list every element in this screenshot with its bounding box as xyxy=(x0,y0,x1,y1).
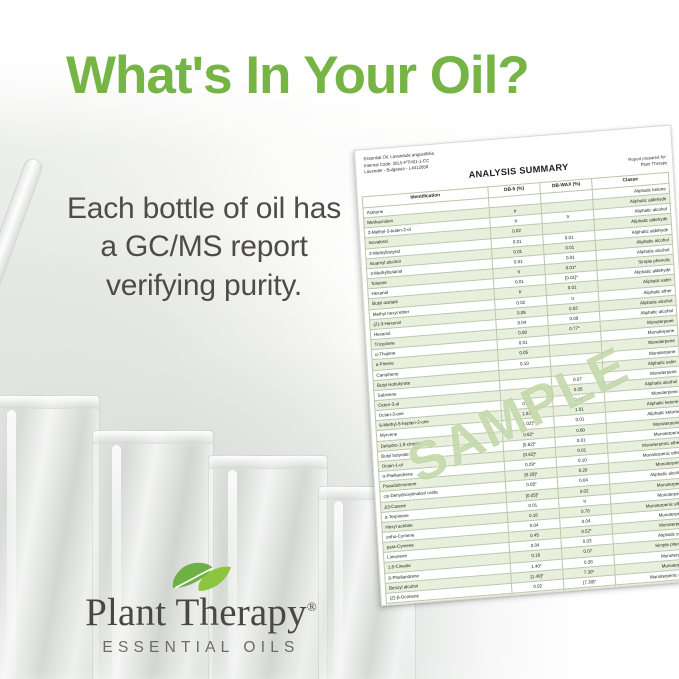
gcms-report-sheet[interactable]: Essential Oil, Lavandula angustifolia In… xyxy=(354,150,679,620)
leaf-icon xyxy=(169,558,233,592)
analysis-table-body: AcetoneAliphatic ketoneMethacroleintrAli… xyxy=(363,183,679,606)
analysis-table: Identification DB-5 (%) DB-WAX (%) Class… xyxy=(362,172,679,606)
cell-classe: Monoterpene xyxy=(617,599,679,606)
poster-canvas: What's In Your Oil? Each bottle of oil h… xyxy=(0,0,679,679)
report-page: Essential Oil, Lavandula angustifolia In… xyxy=(354,124,679,606)
report-prepared-for: Report prepared for: Plant Therapy xyxy=(628,154,667,170)
logo-tagline: ESSENTIAL OILS xyxy=(60,639,342,657)
cell-db5: 2.17 xyxy=(513,599,566,606)
page-title: What's In Your Oil? xyxy=(66,48,646,103)
registered-mark: ® xyxy=(307,599,317,614)
cell-dbwax: 2.10 xyxy=(565,605,618,606)
cell-dbwax: 4.28 xyxy=(565,595,618,606)
brand-logo: Plant Therapy® ESSENTIAL OILS xyxy=(60,558,342,657)
cell-identification: γ-Terpinene xyxy=(387,603,513,606)
cell-classe: Simple phenolic xyxy=(617,589,679,605)
subheading-text: Each bottle of oil has a GC/MS report ve… xyxy=(58,190,350,305)
logo-wordmark: Plant Therapy® xyxy=(85,593,317,632)
logo-name-text: Plant Therapy xyxy=(85,591,307,634)
